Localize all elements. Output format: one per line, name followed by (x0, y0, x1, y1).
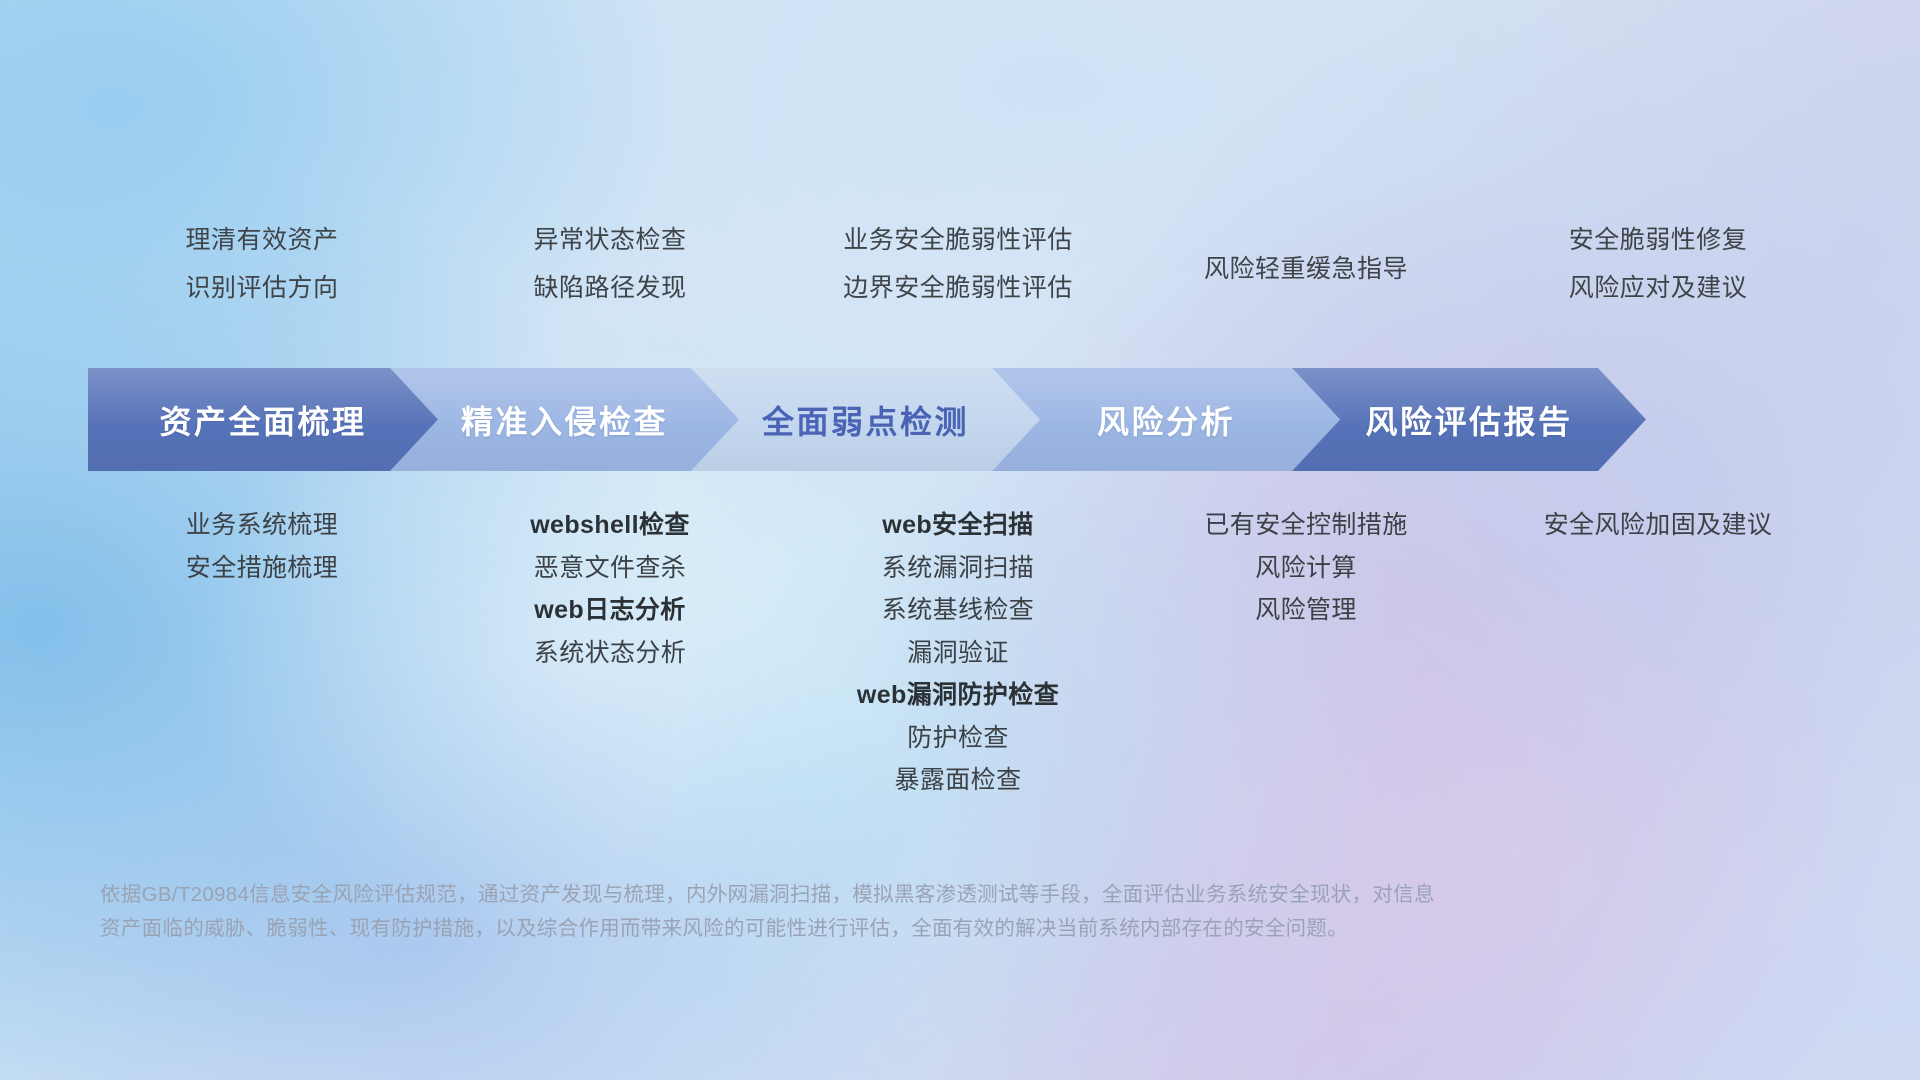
process-infographic: 理清有效资产识别评估方向异常状态检查缺陷路径发现业务安全脆弱性评估边界安全脆弱性… (0, 0, 1920, 1080)
chevron-asset-inventory[interactable]: 资产全面梳理 (88, 368, 438, 471)
chevron-risk-analysis[interactable]: 风险分析 (992, 368, 1340, 471)
stage-item: web漏洞防护检查 (784, 682, 1132, 710)
top-notes-asset-inventory: 理清有效资产识别评估方向 (88, 226, 436, 302)
top-notes-row: 理清有效资产识别评估方向异常状态检查缺陷路径发现业务安全脆弱性评估边界安全脆弱性… (88, 226, 1836, 302)
top-note: 风险轻重缓急指导 (1132, 255, 1480, 283)
top-note: 异常状态检查 (436, 226, 784, 254)
top-notes-risk-analysis: 风险轻重缓急指导 (1132, 226, 1480, 283)
stage-items-asset-inventory: 业务系统梳理安全措施梳理 (88, 512, 436, 582)
stage-items-assessment-report: 安全风险加固及建议 (1480, 512, 1836, 540)
chevron-weakness-detection[interactable]: 全面弱点检测 (691, 368, 1040, 471)
stage-item: 系统状态分析 (436, 640, 784, 668)
stage-item: 风险管理 (1132, 597, 1480, 625)
top-note: 边界安全脆弱性评估 (784, 274, 1132, 302)
top-note: 理清有效资产 (88, 226, 436, 254)
chevron-label: 风险分析 (1097, 397, 1235, 443)
stage-item: 恶意文件查杀 (436, 555, 784, 583)
top-notes-weakness-detection: 业务安全脆弱性评估边界安全脆弱性评估 (784, 226, 1132, 302)
footer-description: 依据GB/T20984信息安全风险评估规范，通过资产发现与梳理，内外网漏洞扫描，… (100, 878, 1660, 946)
chevron-label: 资产全面梳理 (159, 397, 366, 443)
footer-line-1: 依据GB/T20984信息安全风险评估规范，通过资产发现与梳理，内外网漏洞扫描，… (100, 878, 1660, 912)
chevron-label: 精准入侵检查 (461, 397, 668, 443)
top-note: 识别评估方向 (88, 274, 436, 302)
stage-item: 风险计算 (1132, 555, 1480, 583)
stage-item: 漏洞验证 (784, 640, 1132, 668)
stage-item: 防护检查 (784, 725, 1132, 753)
process-chevron-bar: 资产全面梳理精准入侵检查全面弱点检测风险分析风险评估报告 (88, 368, 1838, 471)
stage-item: webshell检查 (436, 512, 784, 540)
stage-item: 安全风险加固及建议 (1480, 512, 1836, 540)
chevron-label: 全面弱点检测 (762, 397, 969, 443)
stage-item: 系统漏洞扫描 (784, 555, 1132, 583)
stage-item: 暴露面检查 (784, 767, 1132, 795)
stage-items-weakness-detection: web安全扫描系统漏洞扫描系统基线检查漏洞验证web漏洞防护检查防护检查暴露面检… (784, 512, 1132, 795)
top-note: 安全脆弱性修复 (1480, 226, 1836, 254)
stage-item: 安全措施梳理 (88, 555, 436, 583)
top-note: 缺陷路径发现 (436, 274, 784, 302)
stage-item: web日志分析 (436, 597, 784, 625)
stage-item: 业务系统梳理 (88, 512, 436, 540)
top-note: 业务安全脆弱性评估 (784, 226, 1132, 254)
chevron-intrusion-check[interactable]: 精准入侵检查 (390, 368, 739, 471)
stage-items-intrusion-check: webshell检查恶意文件查杀web日志分析系统状态分析 (436, 512, 784, 667)
chevron-label: 风险评估报告 (1365, 397, 1572, 443)
stage-items-risk-analysis: 已有安全控制措施风险计算风险管理 (1132, 512, 1480, 625)
top-note: 风险应对及建议 (1480, 274, 1836, 302)
footer-line-2: 资产面临的威胁、脆弱性、现有防护措施，以及综合作用而带来风险的可能性进行评估，全… (100, 912, 1660, 946)
stage-item: 已有安全控制措施 (1132, 512, 1480, 540)
top-notes-intrusion-check: 异常状态检查缺陷路径发现 (436, 226, 784, 302)
top-notes-assessment-report: 安全脆弱性修复风险应对及建议 (1480, 226, 1836, 302)
stage-details-row: 业务系统梳理安全措施梳理webshell检查恶意文件查杀web日志分析系统状态分… (88, 512, 1836, 795)
chevron-assessment-report[interactable]: 风险评估报告 (1292, 368, 1646, 471)
stage-item: 系统基线检查 (784, 597, 1132, 625)
stage-item: web安全扫描 (784, 512, 1132, 540)
